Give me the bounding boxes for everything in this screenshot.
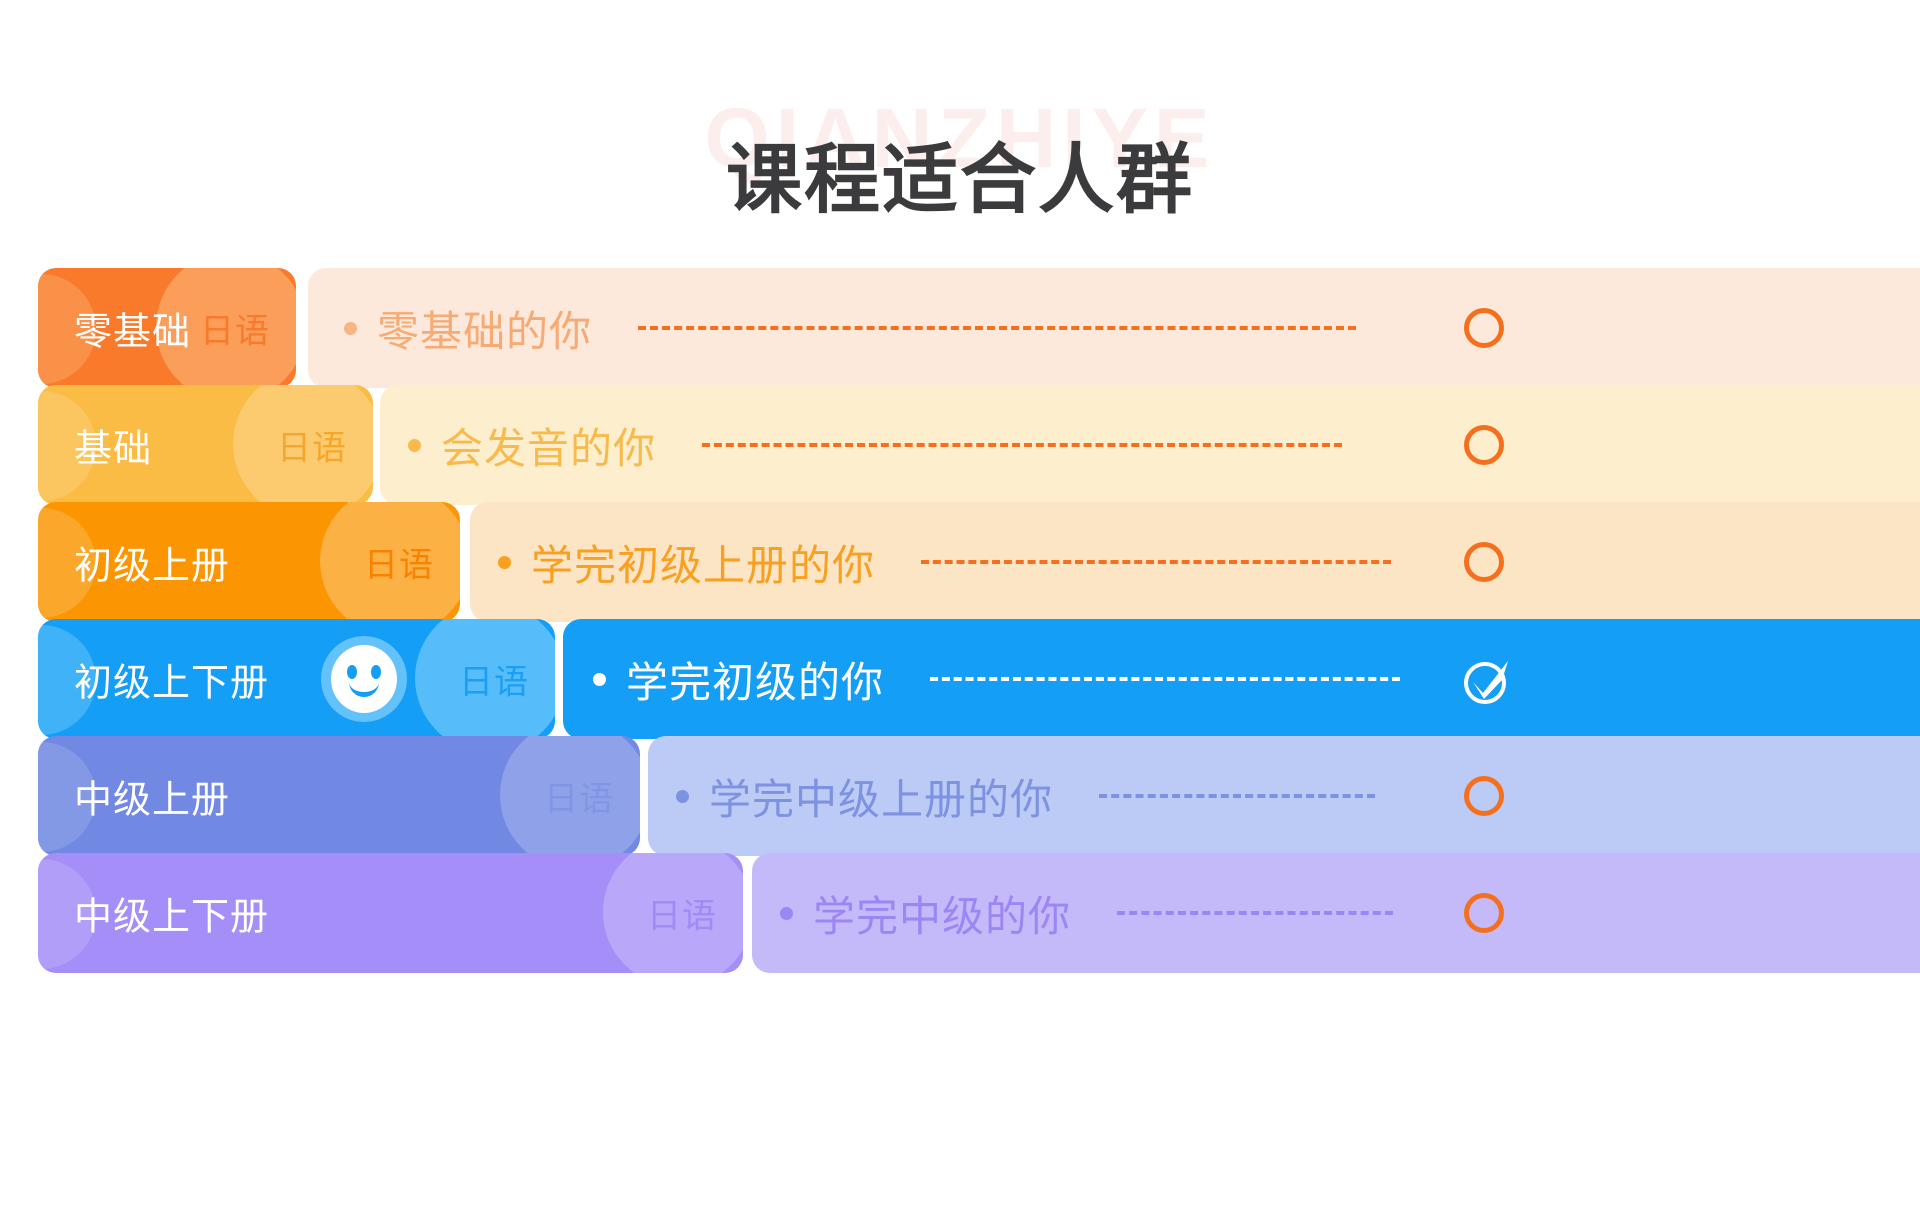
audience-panel[interactable]: 学完初级上册的你 <box>470 502 1920 622</box>
circle-outline <box>1464 542 1504 582</box>
language-badge: 日语 <box>544 772 614 821</box>
level-pill[interactable]: 初级上下册日语 <box>38 619 555 739</box>
bullet-dot-icon <box>408 439 421 452</box>
audience-panel-inner: 学完中级的你 <box>752 853 1920 973</box>
level-pill-label: 初级上下册 <box>74 652 269 707</box>
audience-description: 学完中级的你 <box>813 883 1071 944</box>
smiley-face-icon <box>321 636 407 722</box>
level-pill-label: 零基础 <box>74 301 191 356</box>
audience-panel-inner: 学完初级的你 <box>563 619 1920 739</box>
circle-outline <box>1464 893 1504 933</box>
course-level-row[interactable]: 中级上册日语学完中级上册的你 <box>0 736 1920 856</box>
language-badge: 日语 <box>200 304 270 353</box>
circle-outline <box>1464 776 1504 816</box>
bullet-dot-icon <box>676 790 689 803</box>
empty-circle-icon <box>1462 422 1508 468</box>
page-title: 课程适合人群 <box>0 138 1920 223</box>
audience-description: 会发音的你 <box>441 415 656 476</box>
course-level-row[interactable]: 基础日语会发音的你 <box>0 385 1920 505</box>
language-badge: 日语 <box>647 889 717 938</box>
level-pill[interactable]: 零基础日语 <box>38 268 296 388</box>
infographic-canvas: QIANZHIYE 课程适合人群 零基础日语零基础的你基础日语会发音的你初级上册… <box>0 0 1920 1230</box>
audience-panel-inner: 会发音的你 <box>380 385 1920 505</box>
level-pill-label: 中级上册 <box>74 769 230 824</box>
check-mark-icon <box>1462 656 1508 702</box>
level-pill-label: 基础 <box>74 418 152 473</box>
level-pill[interactable]: 初级上册日语 <box>38 502 460 622</box>
audience-panel-inner: 学完初级上册的你 <box>470 502 1920 622</box>
dashed-connector <box>1099 794 1375 798</box>
course-level-row[interactable]: 零基础日语零基础的你 <box>0 268 1920 388</box>
audience-description: 学完初级的你 <box>626 649 884 710</box>
course-level-row[interactable]: 初级上册日语学完初级上册的你 <box>0 502 1920 622</box>
audience-description: 学完中级上册的你 <box>709 766 1053 827</box>
course-level-row[interactable]: 中级上下册日语学完中级的你 <box>0 853 1920 973</box>
bullet-dot-icon <box>498 556 511 569</box>
level-pill-label: 初级上册 <box>74 535 230 590</box>
level-pill-label: 中级上下册 <box>74 886 269 941</box>
dashed-connector <box>930 677 1400 681</box>
language-badge: 日语 <box>364 538 434 587</box>
title-block: QIANZHIYE 课程适合人群 <box>0 96 1920 256</box>
audience-panel[interactable]: 学完初级的你 <box>563 619 1920 739</box>
empty-circle-icon <box>1462 539 1508 585</box>
bullet-dot-icon <box>780 907 793 920</box>
empty-circle-icon <box>1462 890 1508 936</box>
language-badge: 日语 <box>459 655 529 704</box>
bullet-dot-icon <box>593 673 606 686</box>
bullet-dot-icon <box>344 322 357 335</box>
audience-panel[interactable]: 会发音的你 <box>380 385 1920 505</box>
level-pill[interactable]: 中级上册日语 <box>38 736 640 856</box>
level-pill[interactable]: 基础日语 <box>38 385 373 505</box>
empty-circle-icon <box>1462 305 1508 351</box>
audience-description: 学完初级上册的你 <box>531 532 875 593</box>
level-pill[interactable]: 中级上下册日语 <box>38 853 743 973</box>
audience-panel[interactable]: 学完中级上册的你 <box>648 736 1920 856</box>
empty-circle-icon <box>1462 773 1508 819</box>
circle-outline <box>1464 308 1504 348</box>
dashed-connector <box>638 326 1356 330</box>
dashed-connector <box>1117 911 1393 915</box>
audience-panel[interactable]: 学完中级的你 <box>752 853 1920 973</box>
dashed-connector <box>921 560 1391 564</box>
course-level-row[interactable]: 初级上下册日语学完初级的你 <box>0 619 1920 739</box>
audience-panel-inner: 零基础的你 <box>308 268 1920 388</box>
language-badge: 日语 <box>277 421 347 470</box>
audience-panel[interactable]: 零基础的你 <box>308 268 1920 388</box>
dashed-connector <box>702 443 1342 447</box>
audience-description: 零基础的你 <box>377 298 592 359</box>
audience-panel-inner: 学完中级上册的你 <box>648 736 1920 856</box>
circle-outline <box>1464 425 1504 465</box>
